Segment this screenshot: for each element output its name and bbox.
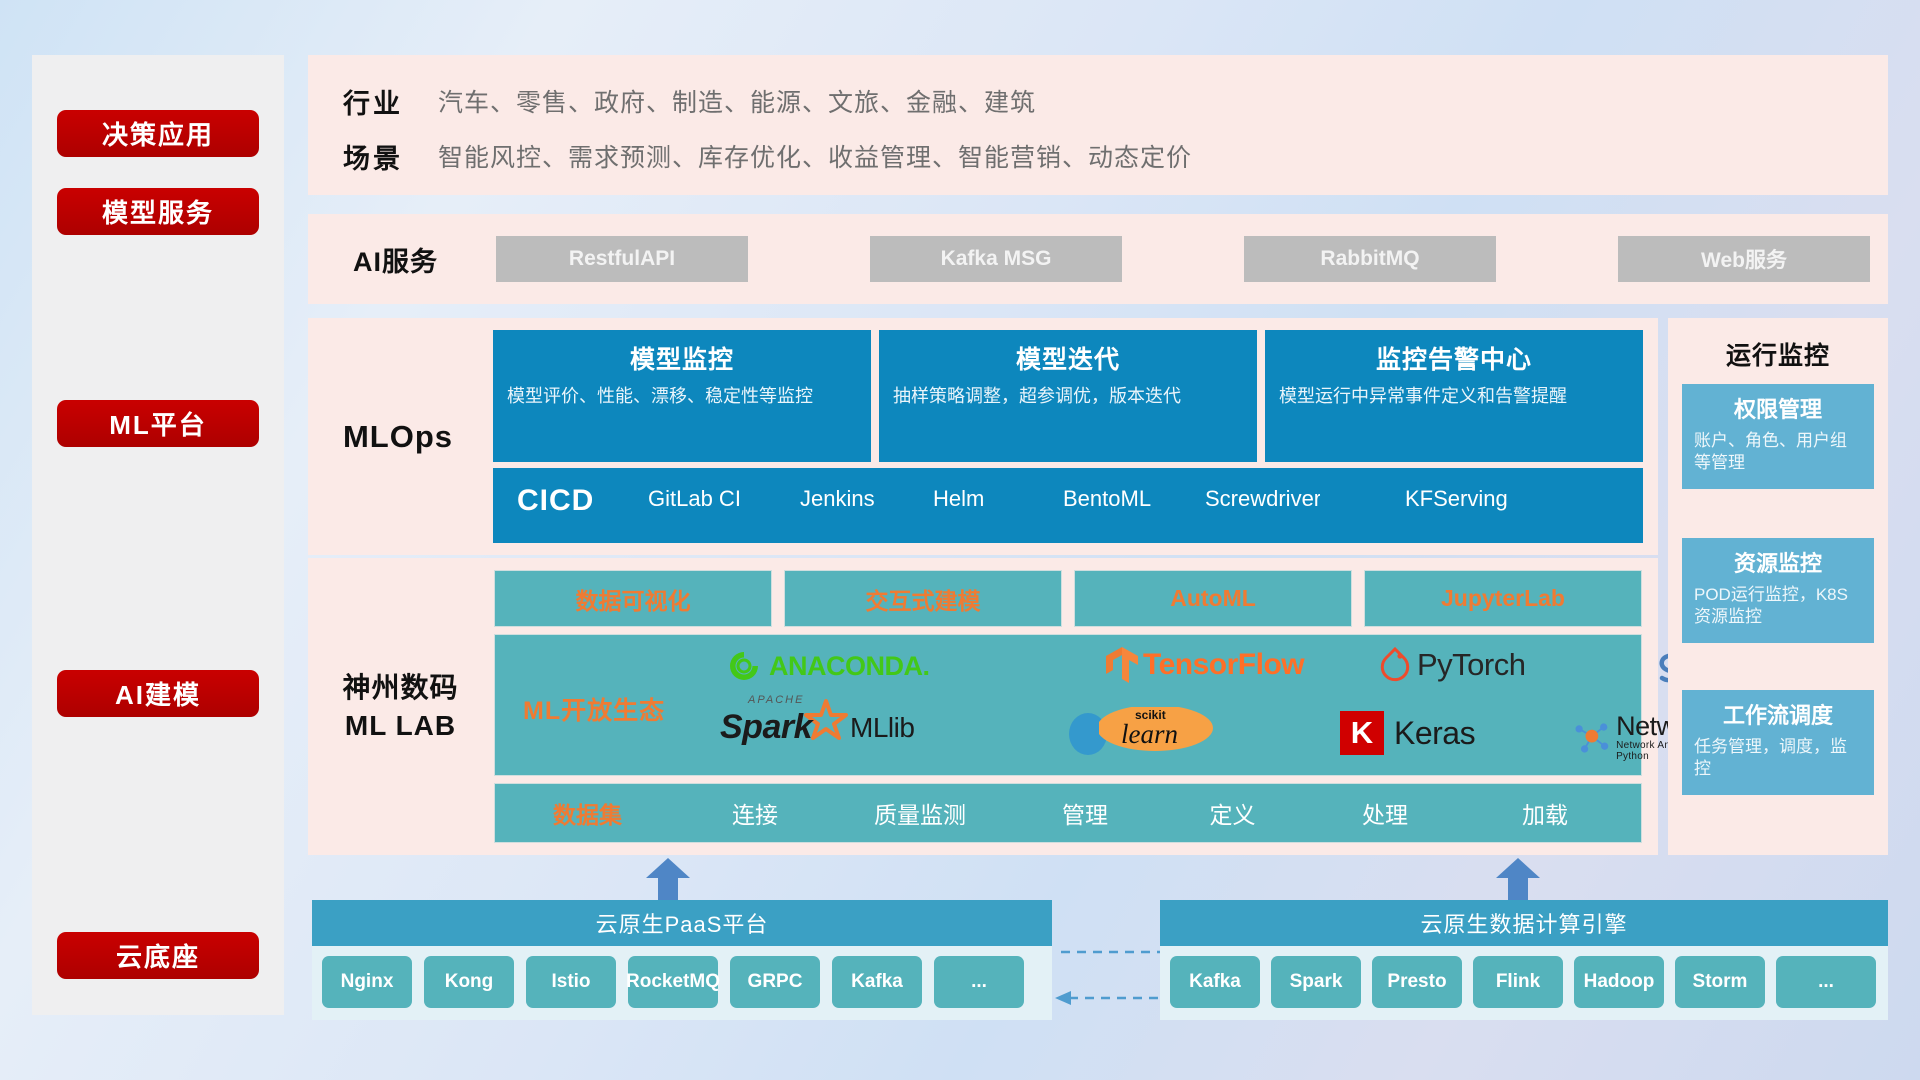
mllib-logo-text: MLlib	[850, 712, 914, 744]
ai-service-label: AI服务	[308, 214, 483, 304]
data-engine-block: 云原生数据计算引擎 Kafka Spark Presto Flink Hadoo…	[1160, 900, 1888, 1020]
rail-chip-ml-platform[interactable]: ML平台	[57, 400, 259, 447]
monitoring-title: 运行监控	[1668, 336, 1888, 372]
engine-chip-flink[interactable]: Flink	[1473, 956, 1563, 1008]
scenario-label: 场景	[308, 137, 438, 176]
ml-ecosystem-bar: ML开放生态 ANACONDA. TensorFlow	[494, 634, 1642, 776]
card-desc: 任务管理，调度，监控	[1694, 736, 1862, 781]
tensorflow-logo-text: TensorFlow	[1143, 648, 1304, 682]
industry-label: 行业	[308, 82, 438, 121]
dataset-item-connect[interactable]: 连接	[680, 796, 830, 830]
ai-service-panel: AI服务 RestfulAPI Kafka MSG RabbitMQ Web服务	[308, 214, 1888, 304]
spark-logo-text: Spark	[720, 708, 812, 746]
scenario-row: 场景 智能风控、需求预测、库存优化、收益管理、智能营销、动态定价	[308, 132, 1888, 180]
paas-chip-nginx[interactable]: Nginx	[322, 956, 412, 1008]
mlops-panel: MLOps 模型监控 模型评价、性能、漂移、稳定性等监控 模型迭代 抽样策略调整…	[308, 318, 1658, 555]
cicd-bar: CICD GitLab CI Jenkins Helm BentoML Scre…	[493, 468, 1643, 543]
data-engine-chip-tray: Kafka Spark Presto Flink Hadoop Storm ..…	[1160, 946, 1888, 1020]
pytorch-logo: PyTorch	[1380, 647, 1525, 683]
rail-chip-decision[interactable]: 决策应用	[57, 110, 259, 157]
dataset-item-management[interactable]: 管理	[1010, 796, 1160, 830]
application-layer-panel: 行业 汽车、零售、政府、制造、能源、文旅、金融、建筑 场景 智能风控、需求预测、…	[308, 55, 1888, 195]
paas-chip-grpc[interactable]: GRPC	[730, 956, 820, 1008]
service-chip-web-service[interactable]: Web服务	[1618, 236, 1870, 282]
ml-ecosystem-label: ML开放生态	[523, 691, 665, 727]
engine-chip-hadoop[interactable]: Hadoop	[1574, 956, 1664, 1008]
dataset-item-quality[interactable]: 质量监测	[830, 796, 1010, 830]
dataset-item-processing[interactable]: 处理	[1305, 796, 1465, 830]
anaconda-logo-text: ANACONDA.	[769, 651, 930, 682]
mlops-card-alert-center[interactable]: 监控告警中心 模型运行中异常事件定义和告警提醒	[1265, 330, 1643, 462]
card-title: 工作流调度	[1694, 698, 1862, 730]
keras-mark-icon: K	[1340, 711, 1384, 755]
tensorflow-logo: TensorFlow	[1105, 645, 1304, 685]
card-title: 权限管理	[1694, 392, 1862, 424]
cicd-item-screwdriver[interactable]: Screwdriver	[1205, 486, 1320, 511]
tool-box-data-visualization[interactable]: 数据可视化	[494, 570, 772, 627]
card-title: 模型监控	[507, 340, 857, 376]
rail-chip-cloud-base[interactable]: 云底座	[57, 932, 259, 979]
left-rail: 决策应用 模型服务 ML平台 AI建模 云底座	[32, 55, 284, 1015]
cicd-item-bentoml[interactable]: BentoML	[1063, 486, 1178, 511]
ml-lab-label-line1: 神州数码	[342, 669, 458, 707]
mlops-label: MLOps	[308, 318, 488, 555]
dataset-item-definition[interactable]: 定义	[1160, 796, 1305, 830]
mlops-card-model-iteration[interactable]: 模型迭代 抽样策略调整，超参调优，版本迭代	[879, 330, 1257, 462]
card-desc: 模型运行中异常事件定义和告警提醒	[1279, 385, 1629, 409]
pytorch-icon	[1380, 647, 1410, 683]
ml-lab-label: 神州数码 ML LAB	[308, 558, 493, 855]
paas-block: 云原生PaaS平台 Nginx Kong Istio RocketMQ GRPC…	[312, 900, 1052, 1020]
paas-chip-rocketmq[interactable]: RocketMQ	[628, 956, 718, 1008]
service-chip-kafka-msg[interactable]: Kafka MSG	[870, 236, 1122, 282]
ml-lab-label-line2: ML LAB	[345, 707, 456, 745]
mlops-card-model-monitor[interactable]: 模型监控 模型评价、性能、漂移、稳定性等监控	[493, 330, 871, 462]
anaconda-logo: ANACONDA.	[727, 649, 930, 683]
card-desc: 抽样策略调整，超参调优，版本迭代	[893, 385, 1243, 409]
cicd-item-kfserving[interactable]: KFServing	[1405, 486, 1520, 511]
monitoring-panel: 运行监控 权限管理 账户、角色、用户组等管理 资源监控 POD运行监控，K8S资…	[1668, 318, 1888, 855]
card-title: 资源监控	[1694, 546, 1862, 578]
industry-row: 行业 汽车、零售、政府、制造、能源、文旅、金融、建筑	[308, 77, 1888, 125]
dataset-label: 数据集	[495, 796, 680, 830]
learn-text: learn	[1121, 719, 1178, 750]
monitoring-card-workflow[interactable]: 工作流调度 任务管理，调度，监控	[1682, 690, 1874, 795]
arrow-up-data-engine-icon	[1490, 858, 1546, 900]
card-title: 监控告警中心	[1279, 340, 1629, 376]
spark-apache-text: APACHE	[748, 694, 804, 706]
paas-chip-kong[interactable]: Kong	[424, 956, 514, 1008]
tool-box-jupyterlab[interactable]: JupyterLab	[1364, 570, 1642, 627]
diagram-canvas: 决策应用 模型服务 ML平台 AI建模 云底座 行业 汽车、零售、政府、制造、能…	[0, 0, 1920, 1080]
anaconda-icon	[727, 649, 761, 683]
tensorflow-icon	[1105, 645, 1139, 685]
pytorch-logo-text: PyTorch	[1417, 647, 1525, 683]
service-chip-restfulapi[interactable]: RestfulAPI	[496, 236, 748, 282]
ai-modeling-panel: 神州数码 ML LAB 数据可视化 交互式建模 AutoML JupyterLa…	[308, 558, 1658, 855]
engine-chip-more[interactable]: ...	[1776, 956, 1876, 1008]
monitoring-card-permission[interactable]: 权限管理 账户、角色、用户组等管理	[1682, 384, 1874, 489]
paas-chip-istio[interactable]: Istio	[526, 956, 616, 1008]
card-desc: 模型评价、性能、漂移、稳定性等监控	[507, 385, 857, 409]
paas-chip-kafka[interactable]: Kafka	[832, 956, 922, 1008]
card-title: 模型迭代	[893, 340, 1243, 376]
engine-chip-storm[interactable]: Storm	[1675, 956, 1765, 1008]
cicd-label: CICD	[517, 484, 594, 518]
spark-mllib-logo: APACHE Spark MLlib	[720, 708, 914, 747]
industry-value: 汽车、零售、政府、制造、能源、文旅、金融、建筑	[438, 83, 1036, 119]
arrow-up-paas-icon	[640, 858, 696, 900]
rail-chip-ai-modeling[interactable]: AI建模	[57, 670, 259, 717]
paas-title: 云原生PaaS平台	[312, 900, 1052, 946]
tool-box-interactive-modeling[interactable]: 交互式建模	[784, 570, 1062, 627]
cicd-item-gitlab-ci[interactable]: GitLab CI	[648, 486, 763, 511]
engine-chip-kafka[interactable]: Kafka	[1170, 956, 1260, 1008]
paas-chip-tray: Nginx Kong Istio RocketMQ GRPC Kafka ...	[312, 946, 1052, 1020]
engine-chip-spark[interactable]: Spark	[1271, 956, 1361, 1008]
engine-chip-presto[interactable]: Presto	[1372, 956, 1462, 1008]
data-engine-title: 云原生数据计算引擎	[1160, 900, 1888, 946]
dataset-bar: 数据集 连接 质量监测 管理 定义 处理 加载	[494, 783, 1642, 843]
networkx-icon	[1570, 718, 1610, 758]
scenario-value: 智能风控、需求预测、库存优化、收益管理、智能营销、动态定价	[438, 138, 1192, 174]
cicd-item-helm[interactable]: Helm	[933, 486, 1048, 511]
monitoring-card-resource[interactable]: 资源监控 POD运行监控，K8S资源监控	[1682, 538, 1874, 643]
keras-logo: K Keras	[1340, 711, 1475, 755]
dataset-item-loading[interactable]: 加载	[1465, 796, 1625, 830]
cicd-item-jenkins[interactable]: Jenkins	[800, 486, 915, 511]
card-desc: POD运行监控，K8S资源监控	[1694, 584, 1862, 629]
keras-logo-text: Keras	[1394, 715, 1475, 752]
scikit-learn-logo: scikit learn	[1065, 707, 1217, 758]
rail-chip-model-service[interactable]: 模型服务	[57, 188, 259, 235]
card-desc: 账户、角色、用户组等管理	[1694, 430, 1862, 475]
paas-chip-more[interactable]: ...	[934, 956, 1024, 1008]
service-chip-rabbitmq[interactable]: RabbitMQ	[1244, 236, 1496, 282]
tool-box-automl[interactable]: AutoML	[1074, 570, 1352, 627]
